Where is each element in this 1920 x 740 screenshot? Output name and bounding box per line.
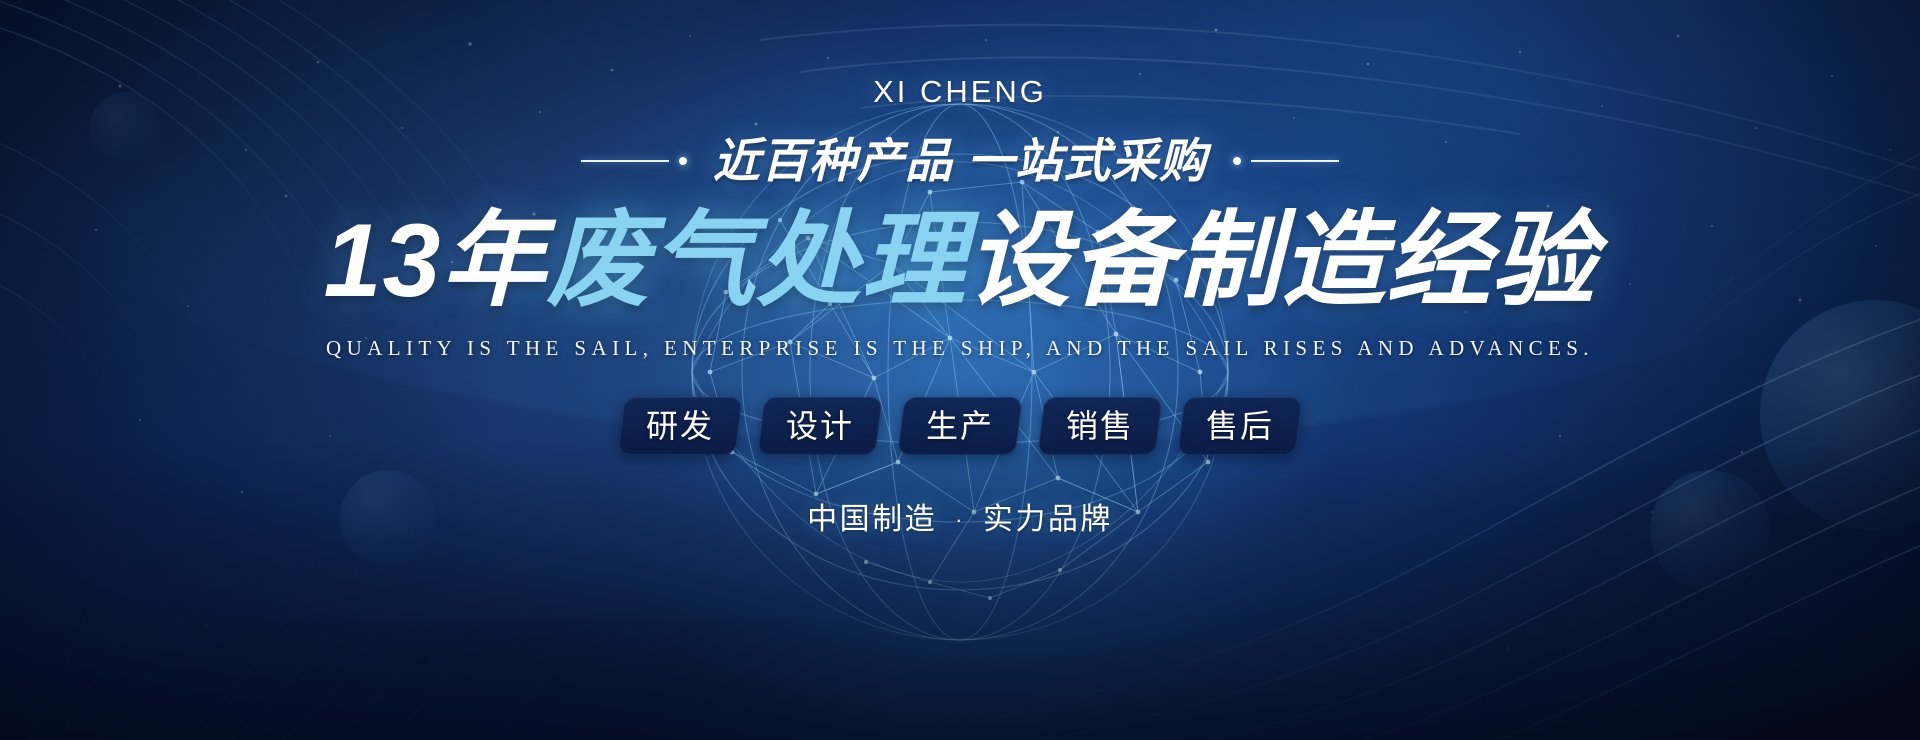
pill-after-sales[interactable]: 售后 bbox=[1177, 397, 1302, 455]
footer-right: 实力品牌 bbox=[983, 505, 1113, 535]
footer-slogan: 中国制造 · 实力品牌 bbox=[807, 505, 1113, 535]
headline-suffix: 设备制造经验 bbox=[966, 203, 1596, 319]
banner-content: XI CHENG 近百种产品 一站式采购 13年废气处理设备制造经验 QUALI… bbox=[0, 0, 1920, 740]
pill-label: 设计 bbox=[786, 410, 854, 442]
banner-subtitle: 近百种产品 一站式采购 bbox=[713, 137, 1207, 184]
headline-accent: 废气处理 bbox=[546, 203, 966, 319]
pill-sales[interactable]: 销售 bbox=[1037, 397, 1162, 455]
pill-label: 销售 bbox=[1066, 410, 1134, 442]
dot-dash-ornament-icon bbox=[1233, 157, 1339, 165]
footer-left: 中国制造 bbox=[807, 505, 937, 535]
pill-label: 售后 bbox=[1206, 410, 1274, 442]
dash-dot-ornament-icon bbox=[581, 157, 687, 165]
headline-prefix: 13年 bbox=[324, 203, 547, 319]
pill-label: 生产 bbox=[926, 410, 994, 442]
pill-design[interactable]: 设计 bbox=[757, 397, 882, 455]
subtitle-row: 近百种产品 一站式采购 bbox=[581, 137, 1339, 184]
hero-banner: XI CHENG 近百种产品 一站式采购 13年废气处理设备制造经验 QUALI… bbox=[0, 0, 1920, 740]
pill-label: 研发 bbox=[646, 410, 714, 442]
pill-production[interactable]: 生产 bbox=[897, 397, 1022, 455]
page-title: 13年废气处理设备制造经验 bbox=[324, 206, 1597, 316]
pill-rnd[interactable]: 研发 bbox=[617, 397, 742, 455]
footer-separator: · bbox=[955, 509, 965, 531]
english-tagline: QUALITY IS THE SAIL, ENTERPRISE IS THE S… bbox=[326, 338, 1594, 359]
service-pill-list: 研发 设计 生产 销售 售后 bbox=[621, 397, 1299, 455]
brand-eyebrow: XI CHENG bbox=[873, 76, 1047, 107]
